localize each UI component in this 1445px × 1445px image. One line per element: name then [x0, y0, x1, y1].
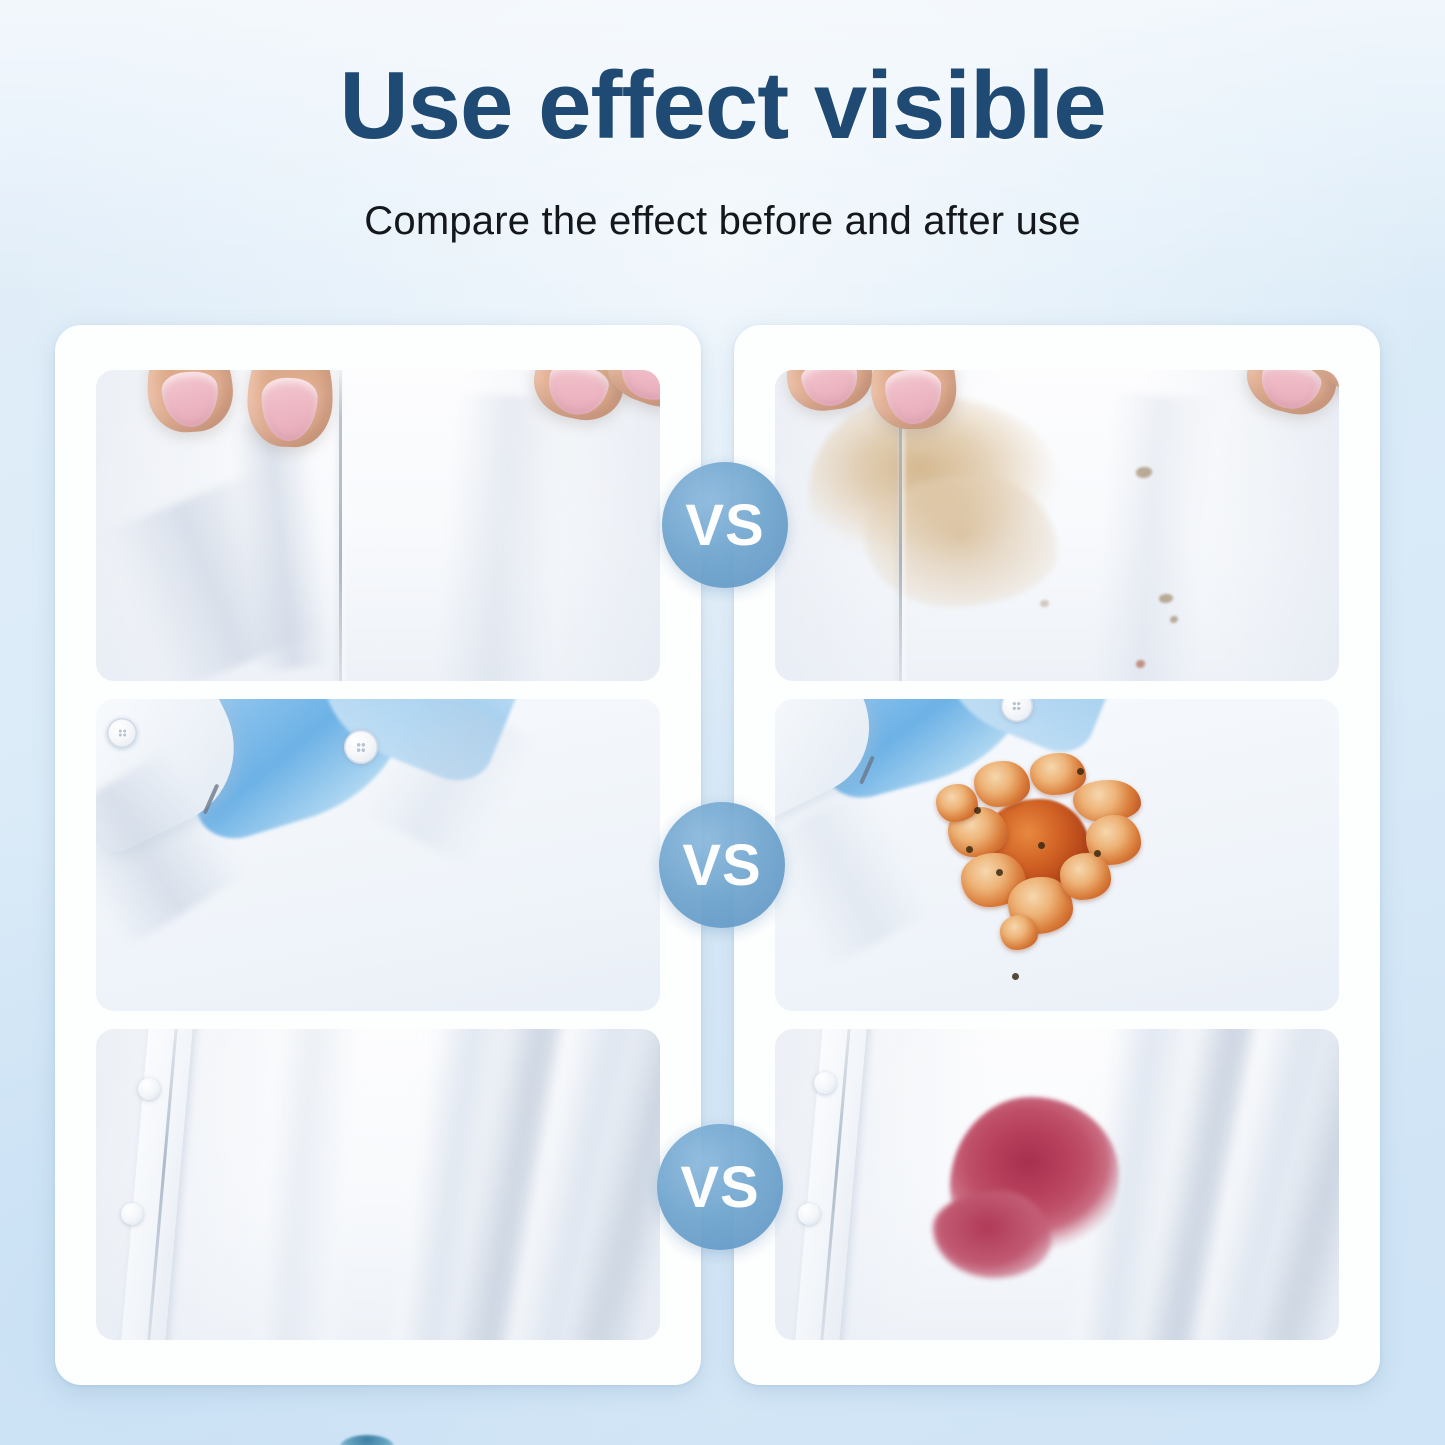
fingernail [261, 378, 319, 443]
page-title: Use effect visible [0, 56, 1445, 157]
photo-clean-white-shirt-held-by-hand [96, 370, 660, 681]
stain-fleck [1170, 616, 1178, 623]
vs-badge-row-1[interactable]: VS [662, 462, 788, 588]
stain-speck [966, 846, 973, 853]
stain-blob [1060, 853, 1111, 899]
fabric-fold [436, 391, 569, 681]
header: Use effect visible Compare the effect be… [0, 0, 1445, 244]
stain-blob [974, 761, 1030, 807]
stain-blob [1000, 915, 1039, 950]
coffee-stain-secondary [865, 476, 1057, 607]
photo-clean-white-button-shirt [96, 1029, 660, 1340]
photo-clean-blue-collar-shirt [96, 699, 660, 1010]
fabric-fold [1092, 392, 1214, 682]
stain-speck [1094, 850, 1101, 857]
photo-wine-stained-white-button-shirt [775, 1029, 1339, 1340]
stain-fleck [1136, 467, 1152, 478]
photo-coffee-stained-white-shirt-held-by-hand [775, 370, 1339, 681]
stain-fleck [1136, 660, 1145, 668]
shirt-seam [339, 370, 342, 681]
photo-food-stained-blue-collar-shirt [775, 699, 1339, 1010]
vs-badge-row-2[interactable]: VS [659, 802, 785, 928]
fingernail [885, 370, 942, 424]
before-use-card [734, 325, 1380, 1385]
chili-sauce-stain [944, 749, 1158, 942]
after-use-card [55, 325, 701, 1385]
stain-speck [996, 869, 1003, 876]
fingernail [161, 370, 221, 429]
vs-badge-row-3[interactable]: VS [657, 1124, 783, 1250]
shirt-button [798, 1203, 820, 1225]
page-subtitle: Compare the effect before and after use [0, 199, 1445, 244]
fingernail [800, 370, 861, 410]
